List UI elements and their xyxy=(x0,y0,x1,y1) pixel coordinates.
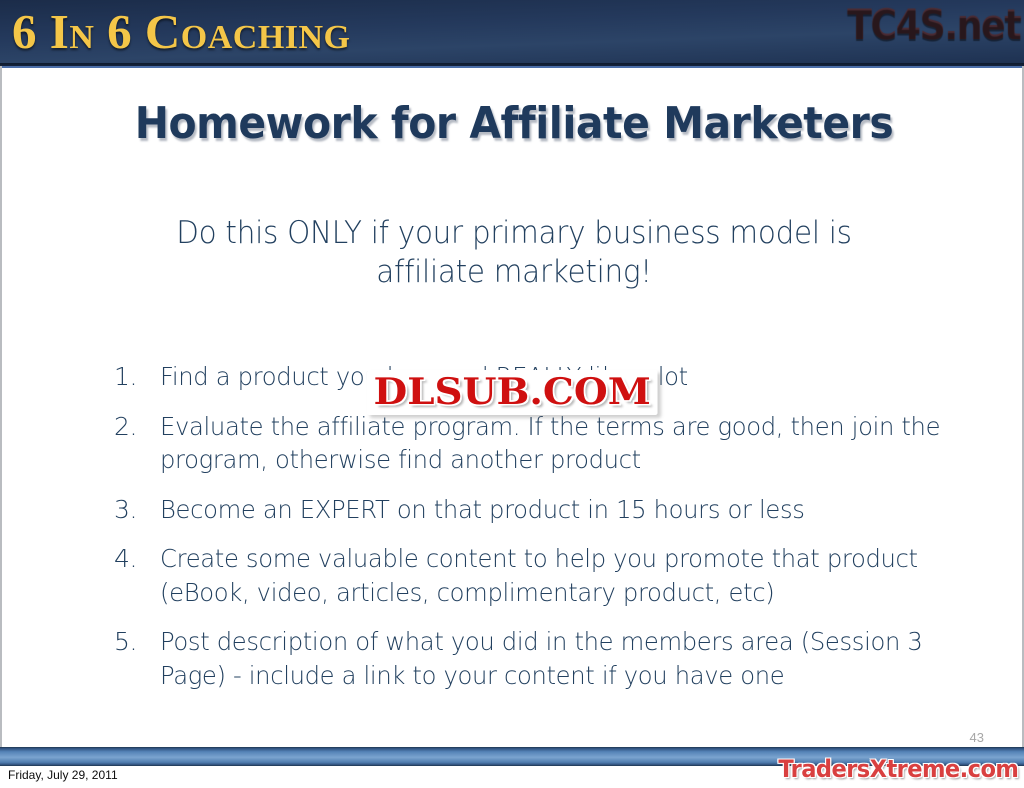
brand-logo-tc4s[interactable]: TC4S.net xyxy=(847,0,1020,49)
slide-subtitle: Do this ONLY if your primary business mo… xyxy=(125,214,904,293)
header-banner: 6 In 6 Coaching TC4S.net xyxy=(0,0,1024,66)
list-item-number: 3. xyxy=(114,493,160,527)
list-item-text: Become an EXPERT on that product in 15 h… xyxy=(160,493,950,527)
list-item-number: 4. xyxy=(114,542,160,576)
footer-date: Friday, July 29, 2011 xyxy=(8,768,118,782)
list-item-number: 5. xyxy=(114,625,160,659)
list-item-text: Post description of what you did in the … xyxy=(160,625,950,692)
list-item-text: Create some valuable content to help you… xyxy=(160,542,950,609)
list-item: 4. Create some valuable content to help … xyxy=(114,542,974,609)
list-item: 3. Become an EXPERT on that product in 1… xyxy=(114,493,974,527)
brand-logo-tradersxtreme[interactable]: TradersXtreme.com xyxy=(778,755,1018,783)
list-item-text: Evaluate the affiliate program. If the t… xyxy=(160,410,950,477)
slide-root: 6 In 6 Coaching TC4S.net Homework for Af… xyxy=(0,0,1024,788)
list-item-number: 1. xyxy=(114,360,160,394)
watermark-dlsub: DLSUB.COM xyxy=(367,370,657,415)
list-item-number: 2. xyxy=(114,410,160,444)
page-title: Homework for Affiliate Marketers xyxy=(38,98,990,149)
list-item: 2. Evaluate the affiliate program. If th… xyxy=(114,410,974,477)
list-item: 5. Post description of what you did in t… xyxy=(114,625,974,692)
header-title: 6 In 6 Coaching xyxy=(12,3,351,60)
page-number: 43 xyxy=(970,730,984,745)
